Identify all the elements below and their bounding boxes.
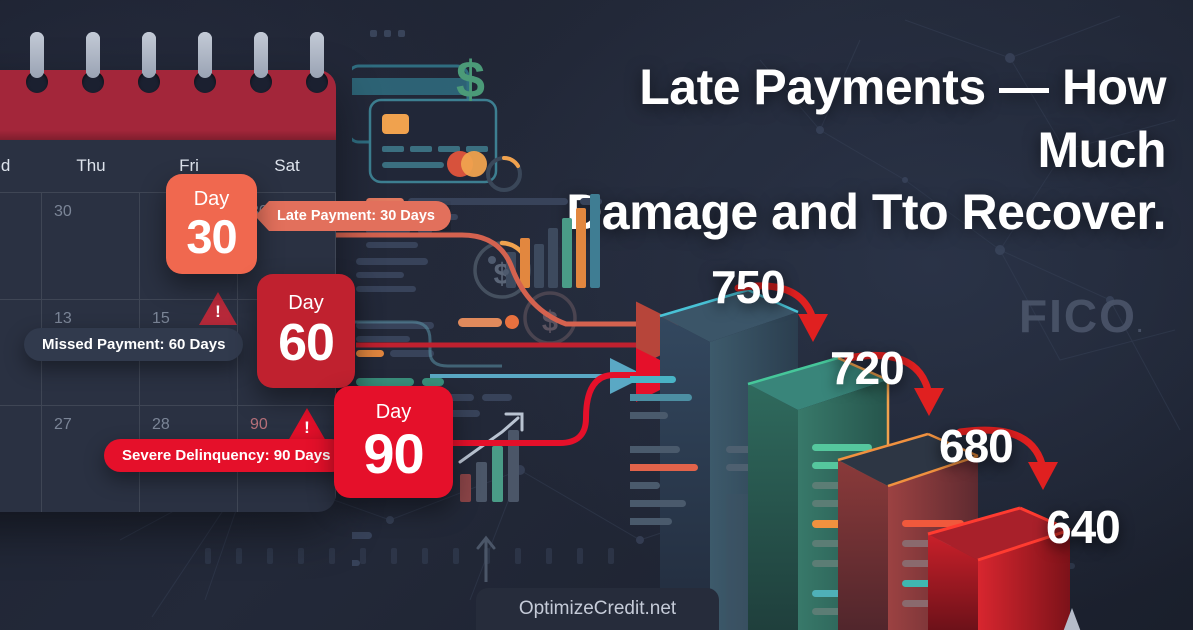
day-30-badge[interactable]: Day 30: [166, 174, 257, 274]
spiral-ring: [254, 32, 268, 88]
calendar-weekday: Wed: [0, 156, 42, 176]
warning-triangle-icon: !: [199, 292, 237, 325]
score-label-680: 680: [939, 419, 1013, 473]
pill-label: Late Payment: 30 Days: [277, 208, 435, 224]
day-label: Day: [376, 402, 412, 422]
site-footer-badge[interactable]: OptimizeCredit.net: [476, 588, 719, 630]
dollar-coin-icon: $: [525, 293, 575, 343]
day-60-badge[interactable]: Day 60: [257, 274, 355, 388]
pill-label: Severe Delinquency: 90 Days: [122, 447, 330, 464]
late-payment-30-pill[interactable]: Late Payment: 30 Days: [255, 201, 451, 231]
warning-glyph: !: [288, 419, 326, 436]
score-label-720: 720: [830, 341, 904, 395]
calendar-cell[interactable]: 30: [42, 192, 140, 299]
dollar-sign-icon: $: [456, 51, 485, 109]
calendar-weekday: Sat: [238, 156, 336, 176]
severe-delinquency-90-pill[interactable]: Severe Delinquency: 90 Days: [104, 439, 348, 472]
day-number: 30: [186, 213, 236, 260]
spiral-ring: [142, 32, 156, 88]
day-number: 90: [363, 426, 423, 482]
warning-triangle-icon: !: [288, 408, 326, 441]
day-label: Day: [194, 189, 230, 209]
site-name: OptimizeCredit.net: [519, 598, 676, 620]
pill-label: Missed Payment: 60 Days: [42, 336, 225, 353]
trend-up-icon: [460, 414, 522, 502]
warning-glyph: !: [199, 303, 237, 320]
credit-card-icon: [370, 100, 496, 182]
score-label-640: 640: [1046, 500, 1120, 554]
score-label-750: 750: [711, 260, 785, 314]
day-90-badge[interactable]: Day 90: [334, 386, 453, 498]
calendar-cell[interactable]: 24: [0, 192, 42, 299]
spiral-ring: [86, 32, 100, 88]
calendar-spiral-binding: [0, 32, 340, 92]
day-number: 60: [278, 317, 334, 369]
infographic-canvas: Late Payments — How Much Damage and Tto …: [0, 0, 1193, 630]
missed-payment-60-pill[interactable]: Missed Payment: 60 Days: [24, 328, 243, 361]
day-label: Day: [288, 293, 324, 313]
calendar-weekday: Fri: [140, 156, 238, 176]
title-line-1: Late Payments — How Much: [639, 59, 1166, 178]
spiral-ring: [198, 32, 212, 88]
spiral-ring: [30, 32, 44, 88]
spiral-ring: [310, 32, 324, 88]
mini-bar-chart: [506, 194, 600, 288]
calendar-weekday: Thu: [42, 156, 140, 176]
svg-text:$: $: [542, 306, 558, 338]
calendar-cell[interactable]: 26: [0, 405, 42, 512]
